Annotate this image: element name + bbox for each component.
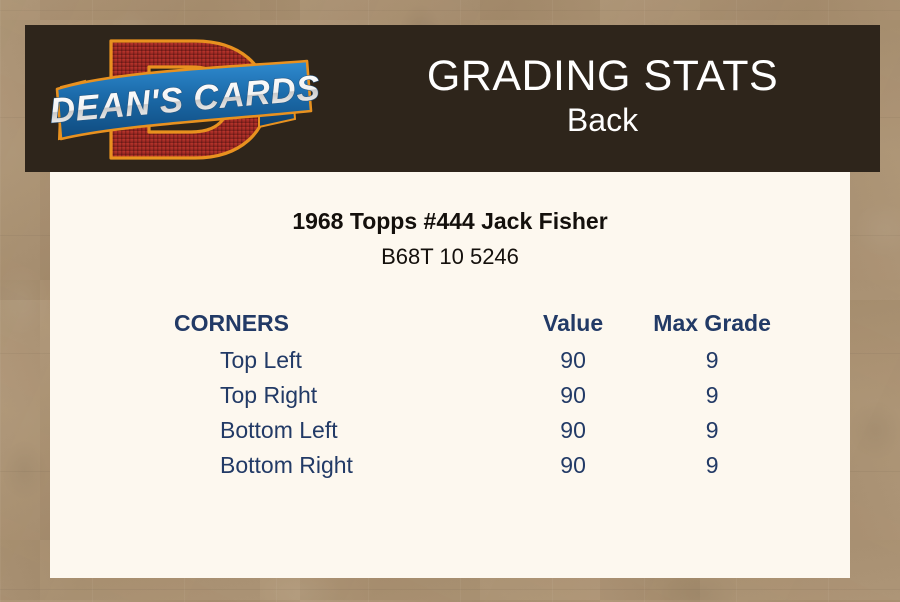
table-row: Top Right 90 9 <box>120 378 780 413</box>
header-title-group: GRADING STATS Back <box>325 25 880 176</box>
row-label: Bottom Left <box>120 413 502 448</box>
card-title: 1968 Topps #444 Jack Fisher <box>50 172 850 235</box>
row-label: Top Left <box>120 343 502 378</box>
row-max-grade: 9 <box>644 448 780 483</box>
row-max-grade: 9 <box>644 378 780 413</box>
column-header-value: Value <box>502 306 644 343</box>
table-header-row: CORNERS Value Max Grade <box>120 306 780 343</box>
row-value: 90 <box>502 343 644 378</box>
column-header-max-grade: Max Grade <box>644 306 780 343</box>
table-row: Top Left 90 9 <box>120 343 780 378</box>
row-label: Bottom Right <box>120 448 502 483</box>
row-max-grade: 9 <box>644 343 780 378</box>
content-panel: 1968 Topps #444 Jack Fisher B68T 10 5246… <box>50 172 850 578</box>
page-subtitle: Back <box>567 99 638 142</box>
row-max-grade: 9 <box>644 413 780 448</box>
card-identifier: B68T 10 5246 <box>50 235 850 270</box>
row-label: Top Right <box>120 378 502 413</box>
row-value: 90 <box>502 378 644 413</box>
row-value: 90 <box>502 413 644 448</box>
table-row: Bottom Right 90 9 <box>120 448 780 483</box>
table-row: Bottom Left 90 9 <box>120 413 780 448</box>
header-bar: DEAN'S CARDS GRADING STATS Back <box>25 25 880 172</box>
deans-cards-logo[interactable]: DEAN'S CARDS <box>45 27 325 172</box>
grading-stats-table: CORNERS Value Max Grade Top Left 90 9 To… <box>120 306 780 483</box>
row-value: 90 <box>502 448 644 483</box>
column-header-corners: CORNERS <box>120 306 502 343</box>
page-title: GRADING STATS <box>427 54 778 99</box>
